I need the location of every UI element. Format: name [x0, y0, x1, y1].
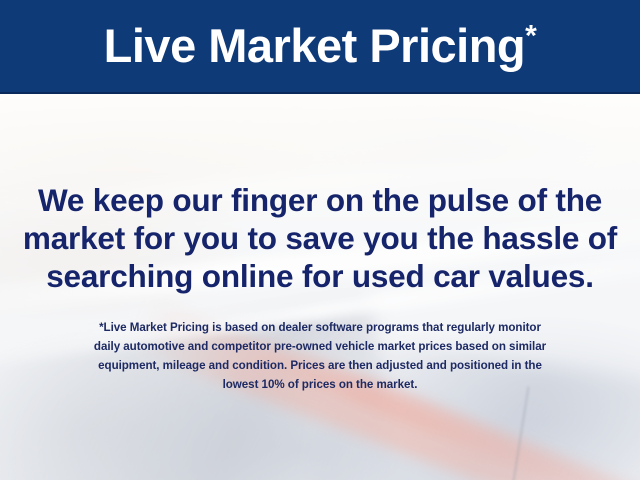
page-title-asterisk: *	[525, 19, 536, 52]
headline: We keep our finger on the pulse of the m…	[0, 181, 640, 295]
headline-line-3: searching online for used car values.	[0, 257, 640, 295]
disclaimer-line-2: daily automotive and competitor pre-owne…	[20, 337, 620, 356]
headline-line-2: market for you to save you the hassle of	[0, 219, 640, 257]
headline-line-1: We keep our finger on the pulse of the	[0, 181, 640, 219]
page-title: Live Market Pricing*	[104, 22, 537, 71]
disclaimer-line-3: equipment, mileage and condition. Prices…	[20, 356, 620, 375]
disclaimer-line-1: *Live Market Pricing is based on dealer …	[20, 318, 620, 337]
page-title-text: Live Market Pricing	[104, 19, 526, 72]
disclaimer: *Live Market Pricing is based on dealer …	[20, 318, 620, 394]
disclaimer-line-4: lowest 10% of prices on the market.	[20, 375, 620, 394]
header-band: Live Market Pricing*	[0, 0, 640, 94]
live-market-pricing-banner: Live Market Pricing* We keep our finger …	[0, 0, 640, 480]
